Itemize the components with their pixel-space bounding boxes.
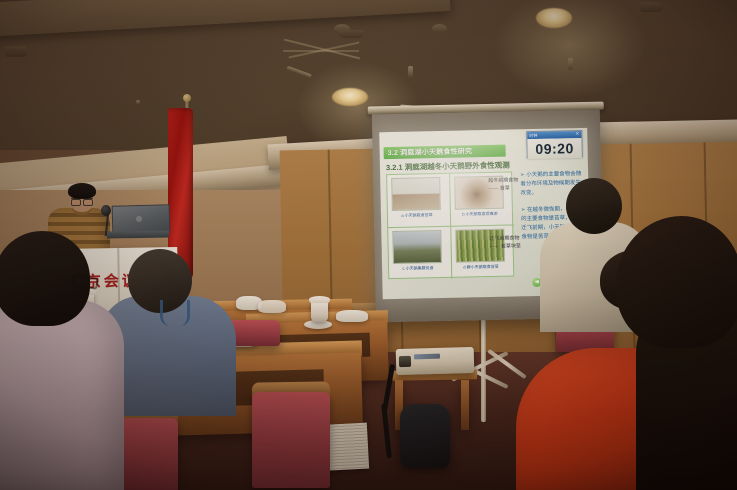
conference-room-photo: 3.2 洞庭湖小天鹅食性研究 3.2.1 洞庭湖越冬小天鹅野外食性观测 a 小天… (0, 0, 737, 490)
slide-section-header-text: 3.2 洞庭湖小天鹅食性研究 (384, 146, 473, 158)
clock-title-text: 时钟 (529, 132, 537, 138)
ceiling-vent-b (640, 2, 662, 12)
clock-widget[interactable]: 时钟 ✕ 09:20 (526, 130, 583, 158)
presenter-laptop-base (107, 230, 169, 238)
close-icon[interactable]: ✕ (575, 132, 579, 137)
wall-bracket-a (136, 100, 140, 104)
floor-backpack (400, 404, 450, 468)
photo-a-caption: a 小天鹅取食苔草 (389, 212, 445, 219)
side-label-1-line2: —— 苔草 (488, 186, 510, 194)
photo-cell-c: c 小天鹅集群觅食 (388, 227, 451, 280)
ceiling-light-right (536, 8, 572, 28)
chair-front-right (252, 392, 330, 488)
side-label-2-line2: —— 苦草块茎 (490, 243, 522, 251)
photo-a-image (391, 177, 441, 211)
projector-lens-icon (399, 356, 411, 367)
ceiling-speaker-b (432, 24, 447, 33)
photo-b-caption: b 小天鹅取食后痕迹 (452, 211, 508, 218)
audience-beige-head (566, 178, 622, 234)
photo-c-caption: c 小天鹅集群觅食 (390, 265, 446, 272)
wall-bracket-d (568, 58, 573, 70)
wall-bracket-c (408, 66, 413, 77)
clock-time-text: 09:20 (535, 140, 574, 157)
photo-cell-a: a 小天鹅取食苔草 (387, 174, 450, 227)
clock-face: 09:20 (527, 138, 581, 159)
projector-table-leg-right (461, 380, 469, 430)
ceiling-light-left (332, 88, 368, 106)
audience-member-front-left (0, 300, 124, 490)
photo-c-image (392, 230, 442, 264)
teacup-2-lid (309, 296, 330, 303)
ceiling-vent-a (5, 46, 27, 57)
slide-section-header: 3.2 洞庭湖小天鹅食性研究 (384, 145, 506, 160)
teacup-2 (311, 300, 328, 322)
flag-pole-finial (183, 94, 191, 102)
presenter-glasses (71, 198, 93, 203)
towel-1 (336, 310, 368, 322)
audience-orange-head (616, 216, 737, 348)
ceiling-vent-c (338, 30, 364, 38)
photo-cell-d: d 群小天鹅取食苔草 (451, 225, 514, 278)
microphone-icon (101, 205, 111, 216)
projector-control-panel (414, 354, 440, 360)
side-label-2-line1: 迁飞前期食物 (489, 235, 519, 243)
side-label-1-line1: 越冬前期食物 (488, 177, 518, 185)
laptop-logo-icon (136, 216, 142, 222)
presenter-hair (68, 183, 96, 199)
audience-lanyard (160, 300, 190, 326)
plastic-bag-item-2 (258, 300, 286, 313)
photo-d-caption: d 群小天鹅取食苔草 (453, 264, 509, 271)
ceiling-frame-line-h (283, 50, 359, 52)
